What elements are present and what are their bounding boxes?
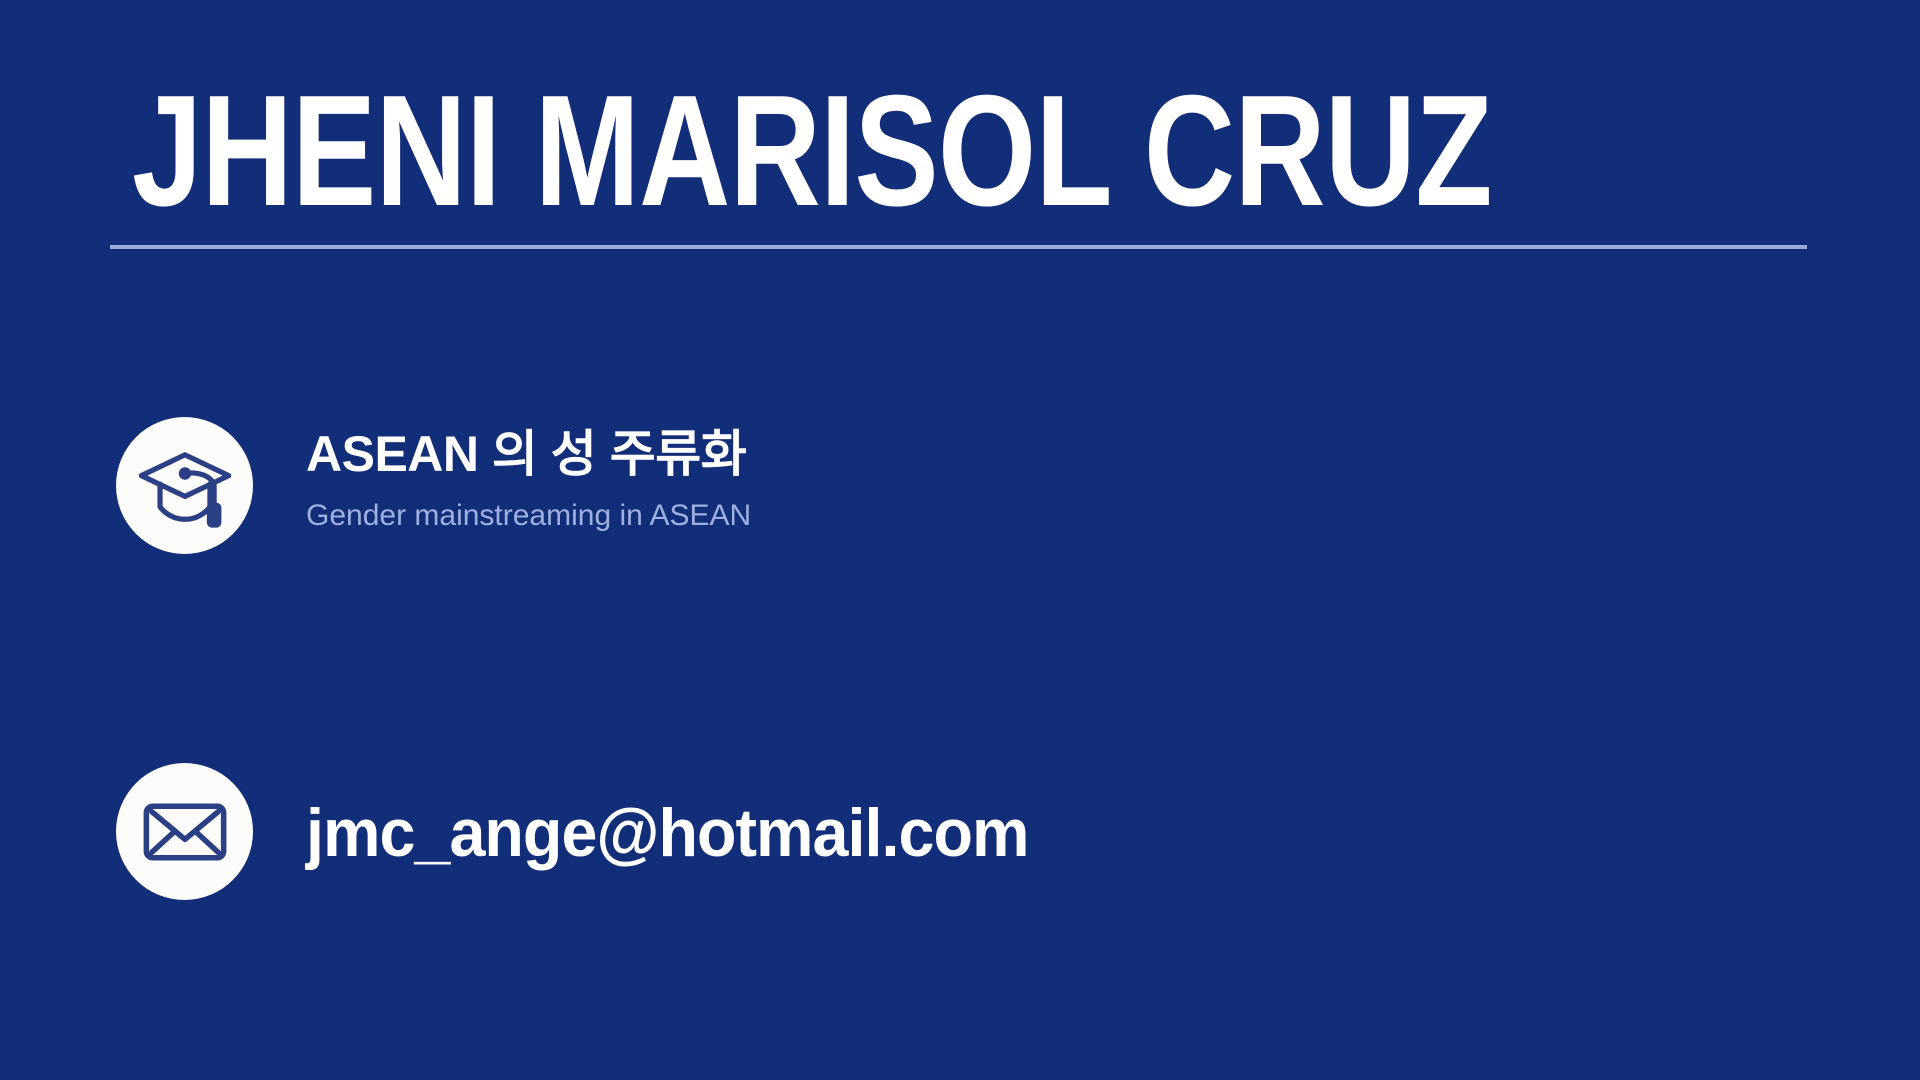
education-heading: ASEAN 의 성 주류화 [306,427,751,481]
info-row-email: jmc_ange@hotmail.com [116,763,1067,900]
title-divider [110,245,1807,249]
email-address: jmc_ange@hotmail.com [306,799,1028,867]
education-subheading: Gender mainstreaming in ASEAN [306,498,751,534]
page-title: JHENI MARISOL CRUZ [132,72,1492,230]
graduation-cap-icon [116,417,253,554]
education-text-group: ASEAN 의 성 주류화 Gender mainstreaming in AS… [306,417,751,534]
email-text-group: jmc_ange@hotmail.com [306,763,1067,867]
info-row-education: ASEAN 의 성 주류화 Gender mainstreaming in AS… [116,417,751,554]
slide-canvas: JHENI MARISOL CRUZ ASEAN 의 성 [0,0,1920,1080]
envelope-icon [116,763,253,900]
